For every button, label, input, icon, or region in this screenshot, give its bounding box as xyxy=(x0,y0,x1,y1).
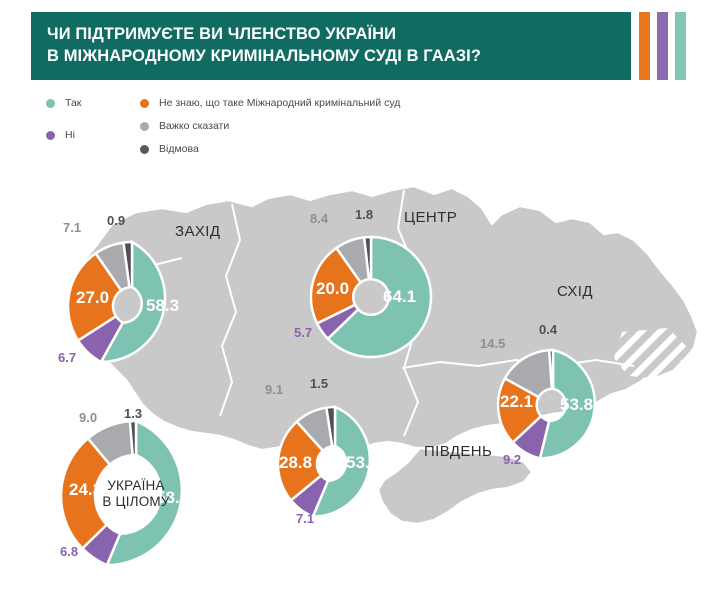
value-hard-to-say: 9.0 xyxy=(79,410,97,425)
value-hard-to-say: 8.4 xyxy=(310,211,328,226)
chart-pivden: 53.4 7.1 28.8 9.1 1.5 xyxy=(274,403,396,525)
region-label-shid: СХІД xyxy=(557,283,593,300)
value-hard-to-say: 7.1 xyxy=(63,220,81,235)
chart-centr: 64.1 5.7 20.0 8.4 1.8 xyxy=(307,233,435,361)
accent-bar-teal xyxy=(675,12,686,80)
value-hard-to-say: 14.5 xyxy=(480,336,505,351)
value-dont-know: 22.1 xyxy=(500,392,533,412)
value-hard-to-say: 9.1 xyxy=(265,382,283,397)
legend-item-no: Ні xyxy=(46,129,75,141)
page-title: ЧИ ПІДТРИМУЄТЕ ВИ ЧЛЕНСТВО УКРАЇНИ В МІЖ… xyxy=(47,23,617,67)
legend-item-dont-know: Не знаю, що таке Міжнародний кримінальни… xyxy=(140,97,400,109)
map-occupied-area xyxy=(614,328,686,378)
legend-swatch-icon xyxy=(140,99,149,108)
value-refusal: 0.9 xyxy=(107,213,125,228)
chart-center-label: УКРАЇНА В ЦІЛОМУ xyxy=(84,478,188,510)
value-yes: 53.4 xyxy=(346,453,379,473)
value-refusal: 1.8 xyxy=(355,207,373,222)
value-no: 5.7 xyxy=(294,325,312,340)
chart-zahid: 58.3 6.7 27.0 7.1 0.9 xyxy=(64,238,200,374)
value-dont-know: 20.0 xyxy=(316,279,349,299)
chart-ukraine-total: 58.5 6.8 24.3 9.0 1.3 УКРАЇНА В ЦІЛОМУ xyxy=(56,416,216,576)
region-label-zahid: ЗАХІД xyxy=(175,223,220,240)
value-no: 7.1 xyxy=(296,511,314,526)
value-yes: 53.8 xyxy=(560,395,593,415)
value-no: 6.8 xyxy=(60,544,78,559)
legend-item-yes: Так xyxy=(46,97,81,109)
region-label-pivden: ПІВДЕНЬ xyxy=(424,443,492,460)
value-dont-know: 27.0 xyxy=(76,288,109,308)
legend-swatch-icon xyxy=(140,122,149,131)
region-label-centr: ЦЕНТР xyxy=(404,209,457,226)
value-no: 6.7 xyxy=(58,350,76,365)
legend-label: Ні xyxy=(65,129,75,141)
value-yes: 58.3 xyxy=(146,296,179,316)
value-refusal: 0.4 xyxy=(539,322,557,337)
legend-label: Не знаю, що таке Міжнародний кримінальни… xyxy=(159,97,400,109)
legend-label: Важко сказати xyxy=(159,120,229,132)
value-no: 9.2 xyxy=(503,452,521,467)
accent-bar-purple xyxy=(657,12,668,80)
legend-label: Так xyxy=(65,97,81,109)
value-yes: 64.1 xyxy=(383,287,416,307)
value-dont-know: 28.8 xyxy=(279,453,312,473)
legend-item-hard-to-say: Важко сказати xyxy=(140,120,229,132)
value-refusal: 1.5 xyxy=(310,376,328,391)
chart-shid: 53.8 9.2 22.1 14.5 0.4 xyxy=(494,346,612,464)
legend-swatch-icon xyxy=(46,131,55,140)
accent-bar-orange xyxy=(639,12,650,80)
legend-swatch-icon xyxy=(46,99,55,108)
value-refusal: 1.3 xyxy=(124,406,142,421)
header-banner: ЧИ ПІДТРИМУЄТЕ ВИ ЧЛЕНСТВО УКРАЇНИ В МІЖ… xyxy=(31,12,631,80)
